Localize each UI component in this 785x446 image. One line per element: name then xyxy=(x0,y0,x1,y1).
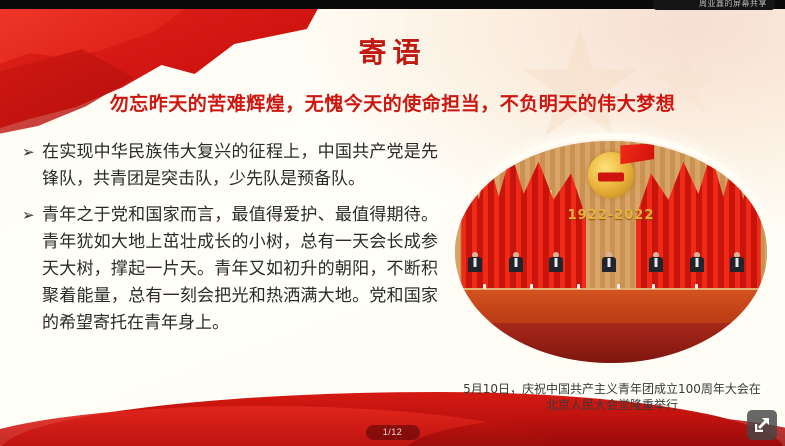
photo-microphone-icon xyxy=(483,284,486,289)
photo-official xyxy=(648,252,663,272)
photo-caption: 5月10日，庆祝中国共产主义青年团成立100周年大会在北京人民大会堂隆重举行 xyxy=(458,381,766,413)
slide-body-bullets: ➢ 在实现中华民族伟大复兴的征程上，中国共产党是先锋队，共青团是突击队，少先队是… xyxy=(18,139,438,346)
expand-arrow-icon xyxy=(753,416,771,434)
photo-official xyxy=(689,252,704,272)
expand-fullscreen-button[interactable] xyxy=(747,410,777,440)
bullet-arrow-icon: ➢ xyxy=(18,139,42,166)
photo-official xyxy=(467,252,482,272)
photo-microphone-icon xyxy=(617,284,620,289)
bullet-text: 青年之于党和国家而言，最值得爱护、最值得期待。青年犹如大地上茁壮成长的小树，总有… xyxy=(42,202,438,337)
screen-share-frame: 周亚鑫的屏幕共享 寄语 勿忘昨天的苦难辉煌，无愧今天的使命担当，不负明天的伟大梦… xyxy=(0,0,785,446)
photo-official xyxy=(508,252,523,272)
slide-title: 寄语 xyxy=(0,31,785,71)
page-indicator: 1/12 xyxy=(366,425,420,440)
photo-podium-table xyxy=(455,288,767,326)
bullet-arrow-icon: ➢ xyxy=(18,202,42,229)
presentation-slide: 寄语 勿忘昨天的苦难辉煌，无愧今天的使命担当，不负明天的伟大梦想 ➢ 在实现中华… xyxy=(0,9,785,446)
slide-subtitle: 勿忘昨天的苦难辉煌，无愧今天的使命担当，不负明天的伟大梦想 xyxy=(0,89,785,116)
share-label: 周亚鑫的屏幕共享 xyxy=(699,0,767,9)
bullet-item: ➢ 青年之于党和国家而言，最值得爱护、最值得期待。青年犹如大地上茁壮成长的小树，… xyxy=(18,202,438,337)
photo-official xyxy=(730,252,745,272)
bullet-item: ➢ 在实现中华民族伟大复兴的征程上，中国共产党是先锋队，共青团是突击队，少先队是… xyxy=(18,139,438,193)
photo-oval-mask: 1922-2022 xyxy=(455,141,767,363)
photo-microphone-icon xyxy=(652,284,655,289)
bullet-text: 在实现中华民族伟大复兴的征程上，中国共产党是先锋队，共青团是突击队，少先队是预备… xyxy=(42,139,438,193)
photo-official xyxy=(602,252,617,272)
photo-microphone-icon xyxy=(695,284,698,289)
photo-stage-floor xyxy=(455,323,767,363)
conference-photo: 1922-2022 xyxy=(455,141,767,363)
photo-official xyxy=(549,252,564,272)
photo-microphone-icon xyxy=(577,284,580,289)
photo-microphone-icon xyxy=(530,284,533,289)
anniversary-years: 1922-2022 xyxy=(568,208,655,223)
share-topbar: 周亚鑫的屏幕共享 xyxy=(0,0,785,9)
